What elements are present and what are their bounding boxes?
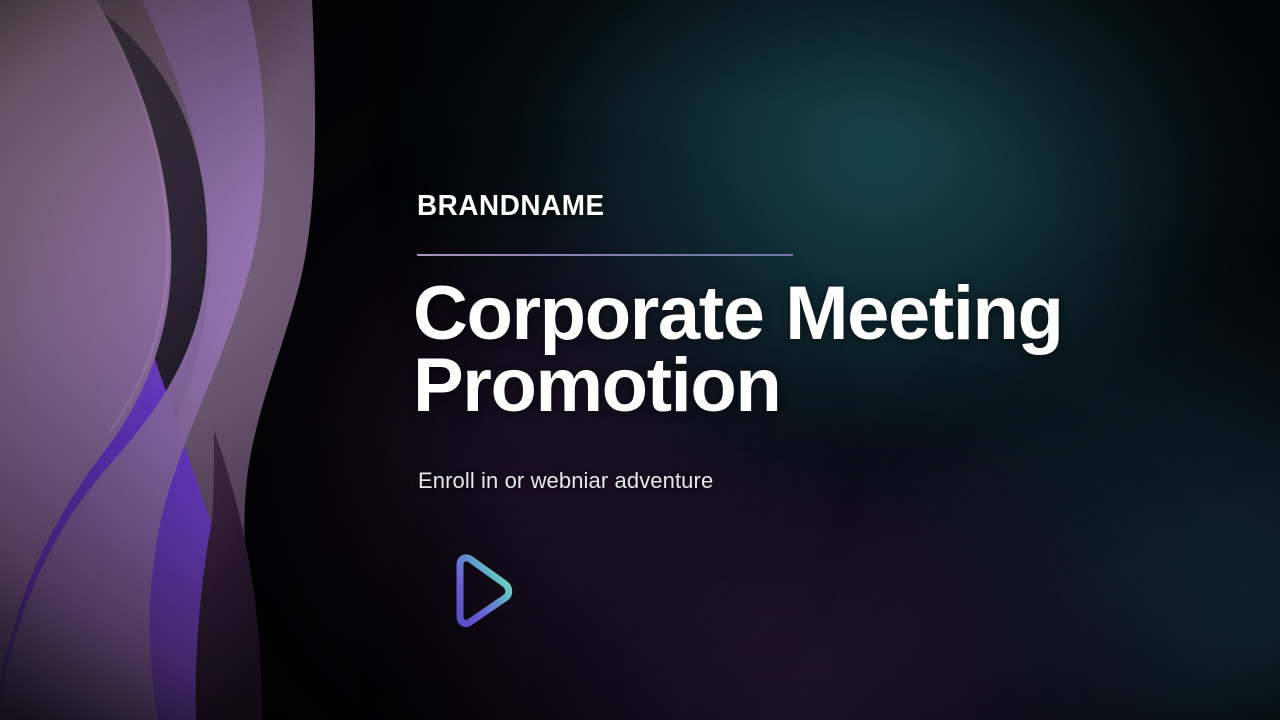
divider-rule [417, 254, 793, 256]
play-triangle-icon[interactable] [431, 550, 519, 634]
headline-line-1: Corporate Meeting [413, 278, 1203, 350]
brand-name: BRANDNAME [417, 190, 605, 223]
slide-content: BRANDNAME Corporate Meeting Promotion En… [417, 0, 1177, 720]
page-title: Corporate Meeting Promotion [413, 278, 1203, 422]
play-triangle-outline [460, 558, 509, 624]
subtitle: Enroll in or webniar adventure [418, 468, 713, 494]
headline-line-2: Promotion [413, 350, 1203, 422]
promo-slide: BRANDNAME Corporate Meeting Promotion En… [0, 0, 1280, 720]
